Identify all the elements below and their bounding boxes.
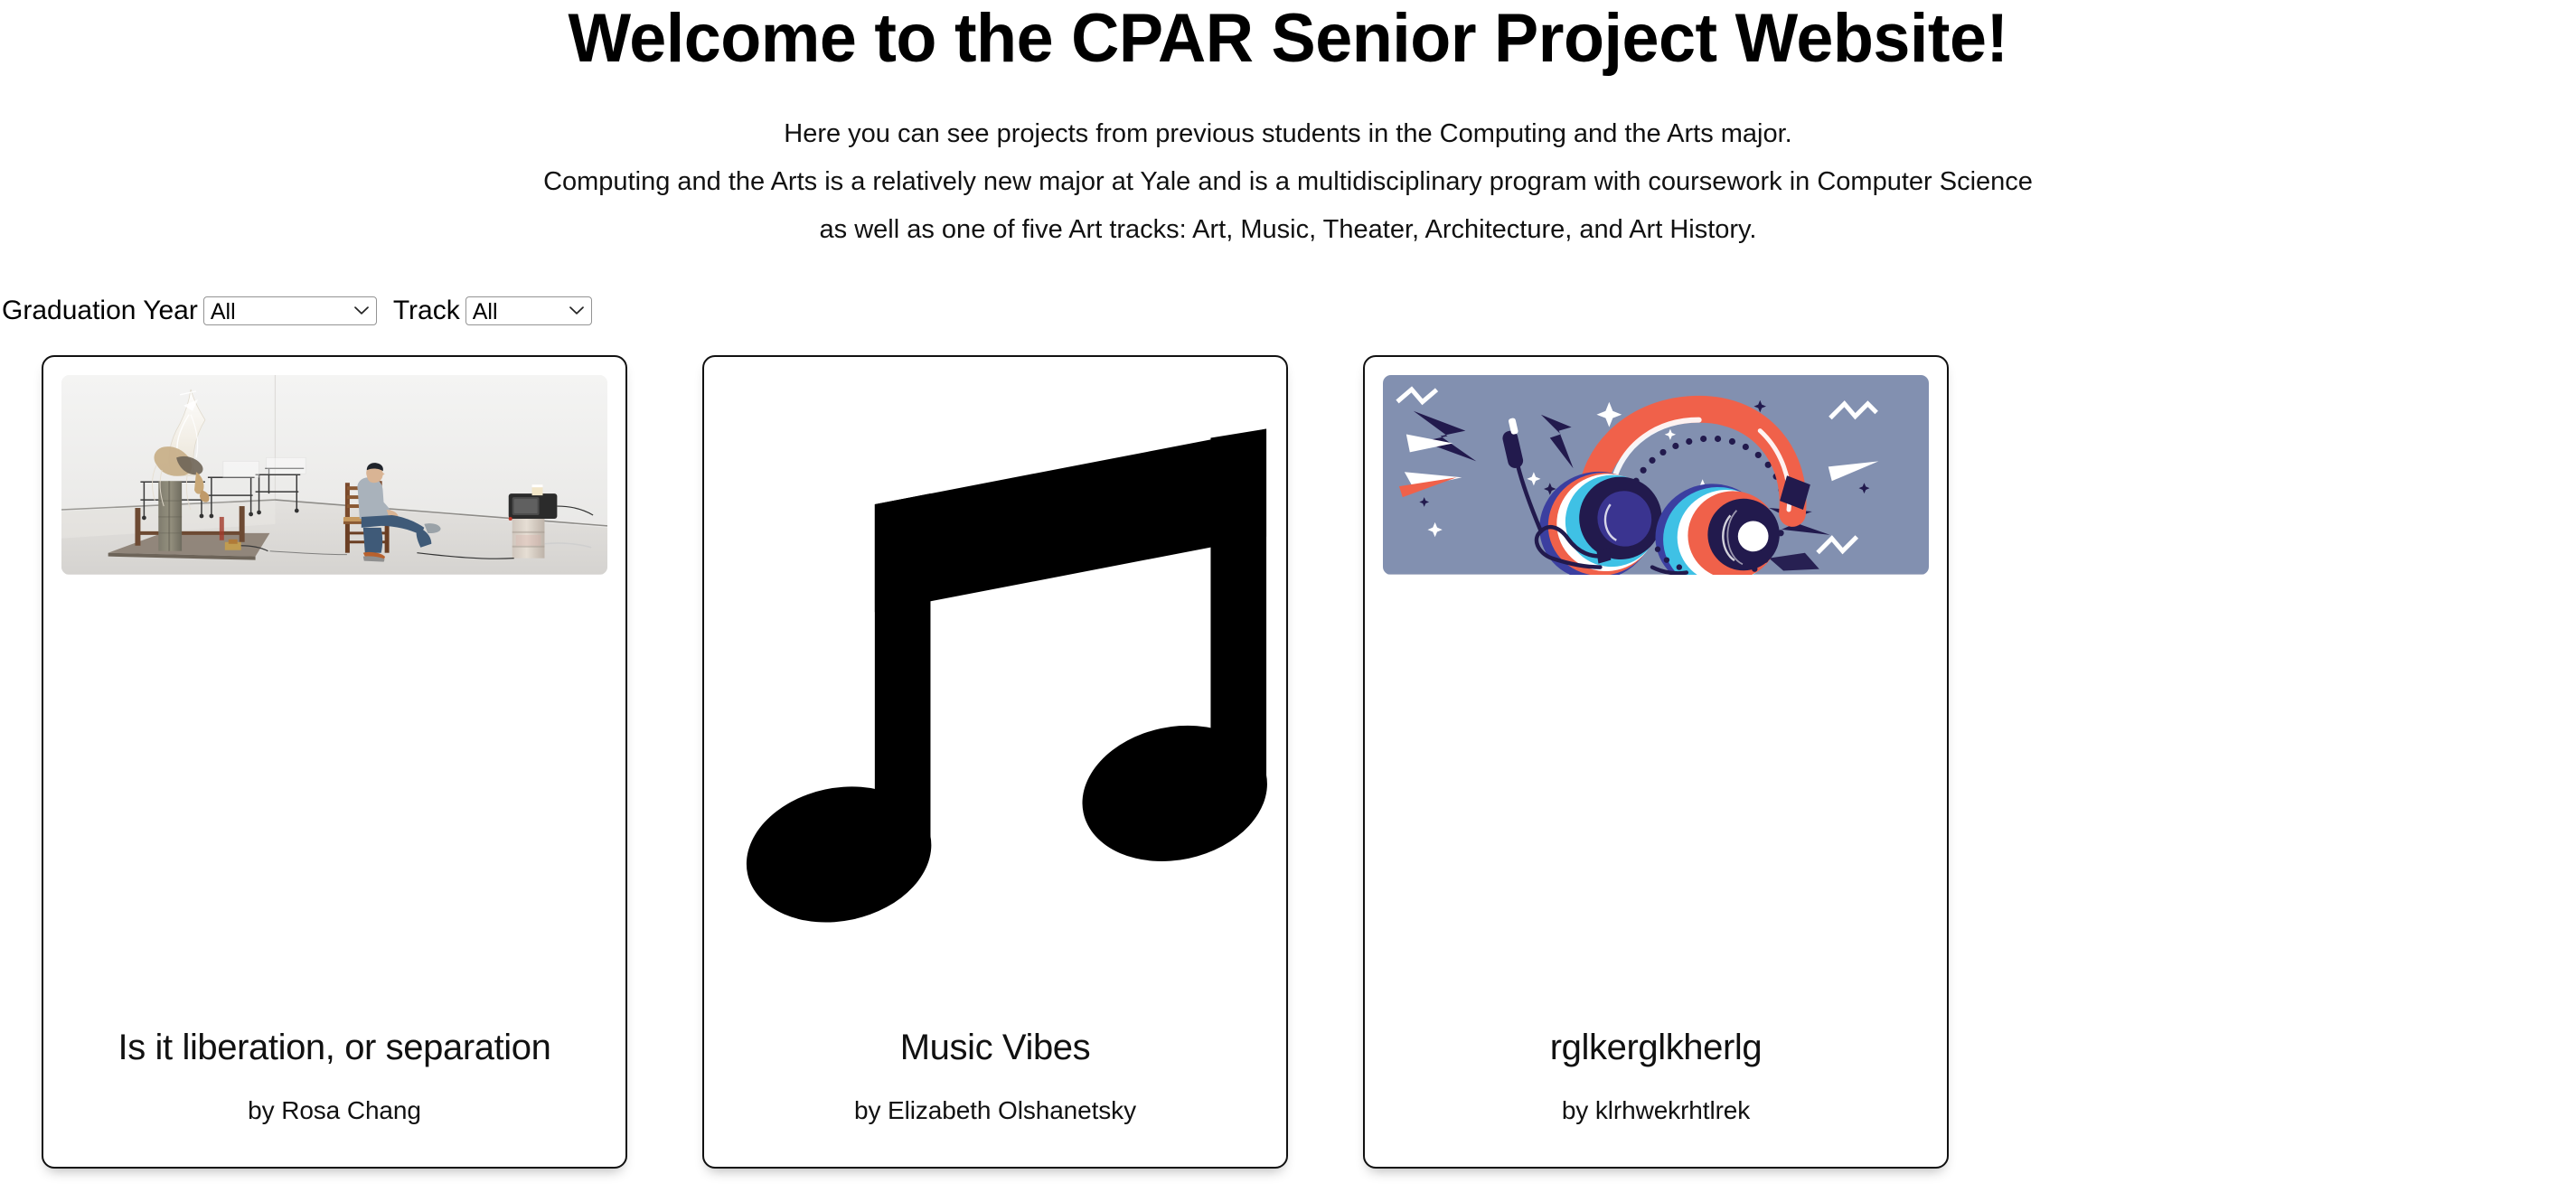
intro-line-3: as well as one of five Art tracks: Art, … — [384, 206, 2192, 254]
project-card[interactable]: rglkerglkherlg by klrhwekrhtlrek — [1363, 355, 1949, 1169]
project-card[interactable]: Music Vibes by Elizabeth Olshanetsky — [702, 355, 1288, 1169]
project-title: Is it liberation, or separation — [67, 1028, 602, 1068]
intro-line-2: Computing and the Arts is a relatively n… — [384, 158, 2192, 206]
page-header: Welcome to the CPAR Senior Project Websi… — [0, 0, 2576, 253]
project-author: by Elizabeth Olshanetsky — [728, 1096, 1263, 1125]
project-card-text: rglkerglkherlg by klrhwekrhtlrek — [1365, 1028, 1947, 1168]
project-card-grid: Is it liberation, or separation by Rosa … — [0, 355, 2576, 1169]
project-card-text: Is it liberation, or separation by Rosa … — [43, 1028, 625, 1168]
project-thumbnail — [704, 357, 1286, 1027]
graduation-year-select[interactable]: All — [203, 296, 377, 325]
project-thumbnail — [43, 357, 625, 575]
graduation-year-select-wrapper: All — [203, 296, 377, 326]
project-title: rglkerglkherlg — [1388, 1028, 1923, 1068]
project-card[interactable]: Is it liberation, or separation by Rosa … — [42, 355, 627, 1169]
beamed-eighth-notes-icon — [717, 366, 1274, 1027]
track-select[interactable]: All — [465, 296, 592, 325]
headphones-illustration — [1383, 375, 1929, 575]
filter-bar: Graduation Year All Track All — [0, 293, 2576, 329]
track-label: Track — [393, 297, 460, 324]
project-author: by Rosa Chang — [67, 1096, 602, 1125]
track-select-wrapper: All — [465, 296, 592, 326]
page-title: Welcome to the CPAR Senior Project Websi… — [39, 2, 2538, 76]
project-title: Music Vibes — [728, 1028, 1263, 1068]
graduation-year-label: Graduation Year — [2, 297, 198, 324]
intro-paragraph: Here you can see projects from previous … — [384, 110, 2192, 253]
project-author: by klrhwekrhtlrek — [1388, 1096, 1923, 1125]
intro-line-1: Here you can see projects from previous … — [384, 110, 2192, 158]
gallery-installation-photo — [61, 375, 607, 575]
project-card-text: Music Vibes by Elizabeth Olshanetsky — [704, 1028, 1286, 1168]
project-thumbnail — [1365, 357, 1947, 575]
